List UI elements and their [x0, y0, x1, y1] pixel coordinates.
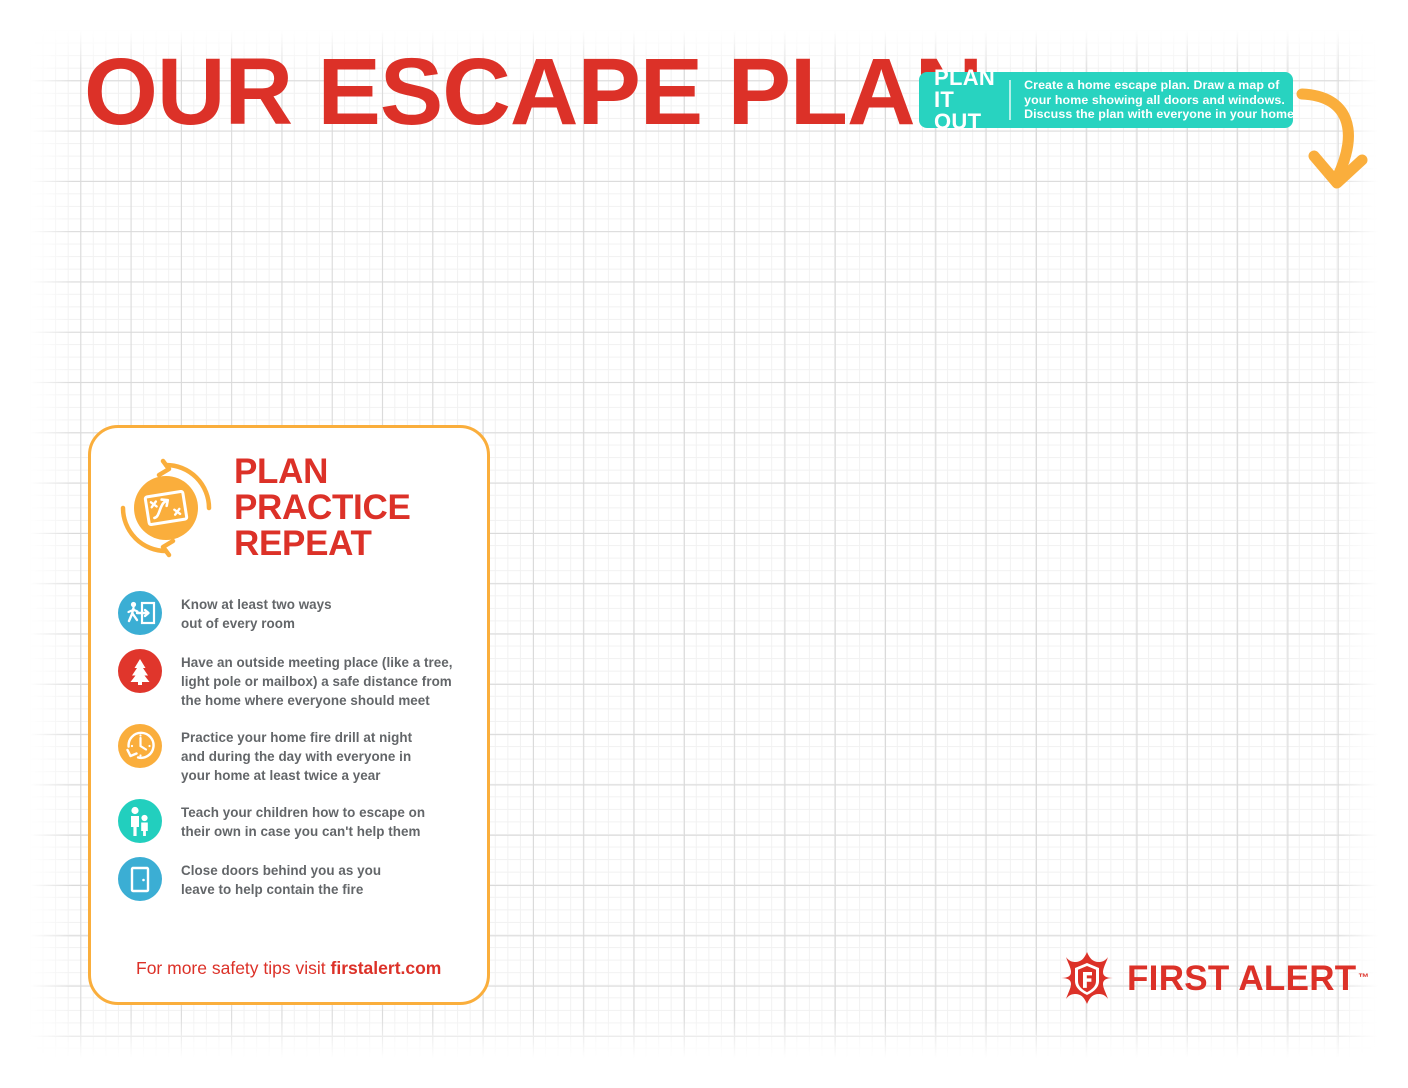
list-item: Have an outside meeting place (like a tr… — [118, 649, 468, 710]
logo-wordmark-text: FIRST ALERT — [1127, 959, 1356, 998]
list-item-text: Practice your home fire drill at night a… — [181, 724, 412, 785]
list-item-text: Have an outside meeting place (like a tr… — [181, 649, 453, 710]
tips-list: Know at least two ways out of every room… — [118, 591, 468, 915]
card-header: PLAN PRACTICE REPEAT — [116, 454, 411, 562]
pine-tree-icon — [118, 649, 162, 693]
callout-label: PLAN IT OUT — [919, 67, 1009, 133]
list-item-text: Teach your children how to escape on the… — [181, 799, 425, 841]
trademark-symbol: ™ — [1358, 961, 1369, 996]
tip-line: their own in case you can't help them — [181, 822, 425, 841]
callout-body-line1: Create a home escape plan. Draw a map of — [1024, 78, 1298, 93]
adult-and-child-icon — [118, 799, 162, 843]
tip-line: Have an outside meeting place (like a tr… — [181, 653, 453, 672]
list-item: Close doors behind you as you leave to h… — [118, 857, 468, 901]
tip-line: Teach your children how to escape on — [181, 803, 425, 822]
closed-door-icon — [118, 857, 162, 901]
card-title-line1: PLAN — [234, 454, 411, 490]
list-item-text: Close doors behind you as you leave to h… — [181, 857, 381, 899]
list-item-text: Know at least two ways out of every room — [181, 591, 332, 633]
tip-line: Know at least two ways — [181, 595, 332, 614]
callout-body-line2: your home showing all doors and windows. — [1024, 93, 1298, 108]
first-alert-maltese-cross-f-icon — [1059, 950, 1115, 1006]
callout-body: Create a home escape plan. Draw a map of… — [1011, 78, 1306, 122]
tip-line: Practice your home fire drill at night — [181, 728, 412, 747]
card-title-line3: REPEAT — [234, 526, 411, 562]
footer-link[interactable]: firstalert.com — [331, 958, 442, 978]
tip-line: the home where everyone should meet — [181, 691, 453, 710]
exit-door-running-person-icon — [118, 591, 162, 635]
tip-line: and during the day with everyone in — [181, 747, 412, 766]
card-title-line2: PRACTICE — [234, 490, 411, 526]
clock-repeat-icon — [118, 724, 162, 768]
callout-label-line1: PLAN — [934, 67, 995, 89]
logo-wordmark: FIRST ALERT ™ — [1127, 961, 1356, 996]
tip-line: Close doors behind you as you — [181, 861, 381, 880]
plan-it-out-callout: PLAN IT OUT Create a home escape plan. D… — [919, 72, 1293, 128]
tip-line: out of every room — [181, 614, 332, 633]
list-item: Know at least two ways out of every room — [118, 591, 468, 635]
plan-practice-repeat-cycle-icon — [116, 458, 216, 558]
footer-prefix: For more safety tips visit — [136, 958, 331, 978]
callout-body-line3: Discuss the plan with everyone in your h… — [1024, 107, 1298, 122]
card-title: PLAN PRACTICE REPEAT — [234, 454, 411, 562]
callout-label-line2: IT OUT — [934, 89, 995, 133]
tip-line: light pole or mailbox) a safe distance f… — [181, 672, 453, 691]
tip-line: leave to help contain the fire — [181, 880, 381, 899]
page-title: OUR ESCAPE PLAN — [84, 45, 982, 140]
safety-tips-footer[interactable]: For more safety tips visit firstalert.co… — [136, 958, 441, 978]
tip-line: your home at least twice a year — [181, 766, 412, 785]
plan-practice-repeat-card: PLAN PRACTICE REPEAT — [88, 425, 490, 1005]
list-item: Practice your home fire drill at night a… — [118, 724, 468, 785]
first-alert-logo: FIRST ALERT ™ — [1059, 950, 1356, 1006]
list-item: Teach your children how to escape on the… — [118, 799, 468, 843]
poster-canvas: OUR ESCAPE PLAN PLAN IT OUT Create a hom… — [0, 0, 1408, 1088]
